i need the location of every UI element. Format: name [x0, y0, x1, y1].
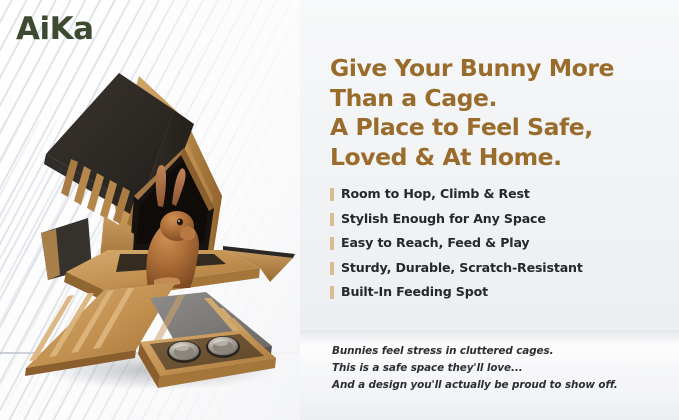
- rabbit-eye: [177, 219, 183, 226]
- feature-list: Room to Hop, Climb & Rest Stylish Enough…: [330, 188, 660, 311]
- tagline-text: Bunnies feel stress in cluttered cages. …: [332, 343, 662, 394]
- page-title: Give Your Bunny More Than a Cage. A Plac…: [330, 54, 666, 173]
- brand-logo: AiKa: [16, 14, 94, 45]
- list-item: Built-In Feeding Spot: [330, 286, 660, 299]
- bullet-marker-icon: [330, 286, 334, 299]
- feature-label: Stylish Enough for Any Space: [341, 213, 546, 226]
- feature-label: Built-In Feeding Spot: [341, 286, 488, 299]
- feeding-bowl-left: [167, 341, 201, 363]
- feature-label: Easy to Reach, Feed & Play: [341, 237, 530, 250]
- copy-block: Give Your Bunny More Than a Cage. A Plac…: [330, 54, 666, 173]
- bullet-marker-icon: [330, 237, 334, 250]
- feature-label: Room to Hop, Climb & Rest: [341, 188, 530, 201]
- rabbit-eye-highlight: [178, 220, 180, 222]
- list-item: Easy to Reach, Feed & Play: [330, 237, 660, 250]
- bullet-marker-icon: [330, 188, 334, 201]
- list-item: Stylish Enough for Any Space: [330, 213, 660, 226]
- product-illustration: [8, 58, 308, 388]
- background-band-divider: [300, 330, 679, 344]
- list-item: Sturdy, Durable, Scratch-Resistant: [330, 262, 660, 275]
- bullet-marker-icon: [330, 213, 334, 226]
- product-image: [8, 58, 308, 388]
- feeding-bowl-right: [206, 336, 240, 358]
- list-item: Room to Hop, Climb & Rest: [330, 188, 660, 201]
- bullet-marker-icon: [330, 262, 334, 275]
- feature-label: Sturdy, Durable, Scratch-Resistant: [341, 262, 583, 275]
- advertisement-canvas: AiKa: [0, 0, 679, 420]
